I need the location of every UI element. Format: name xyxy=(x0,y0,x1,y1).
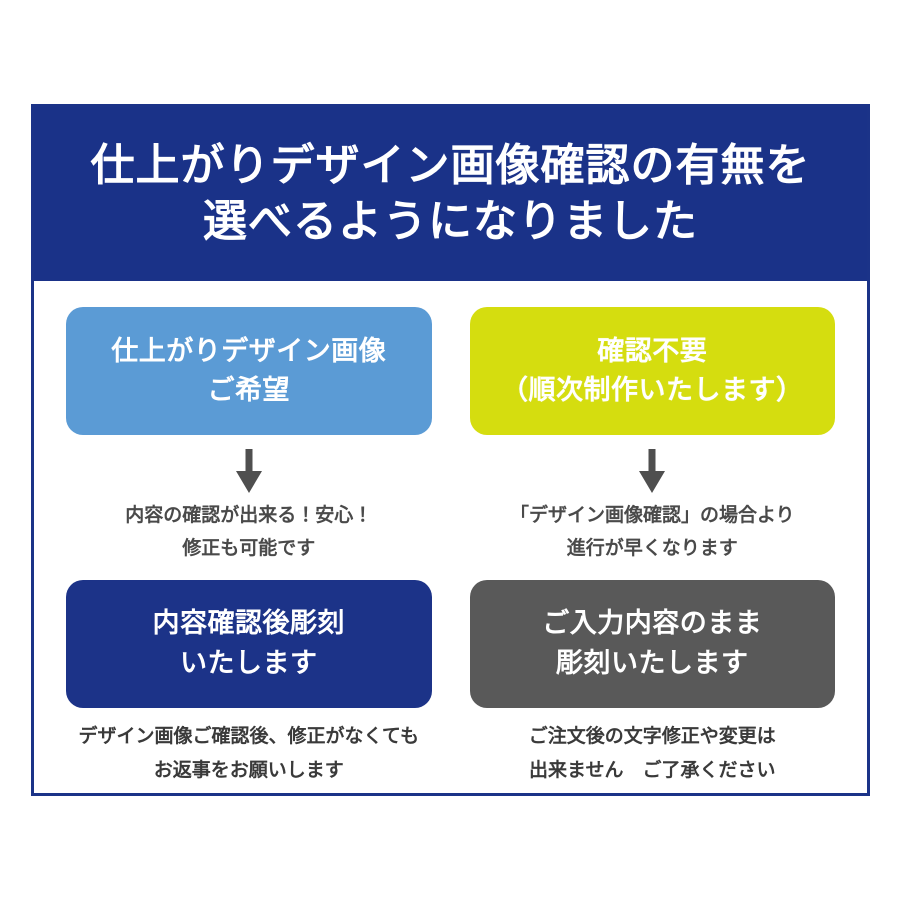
option-pill-design-image-requested[interactable]: 仕上がりデザイン画像 ご希望 xyxy=(66,307,432,435)
benefit-note-left-line-1: 内容の確認が出来る！安心！ xyxy=(125,499,372,532)
caption-left-line-2: お返事をお願いします xyxy=(79,754,419,788)
benefit-note-left: 内容の確認が出来る！安心！ 修正も可能です xyxy=(125,499,372,566)
result-pill-line-2: いたします xyxy=(180,644,318,683)
down-arrow-icon xyxy=(234,449,264,493)
option-pill-line-2: ご希望 xyxy=(208,371,291,410)
caption-right: ご注文後の文字修正や変更は 出来ません ご了承ください xyxy=(529,720,776,788)
benefit-note-left-line-2: 修正も可能です xyxy=(125,532,372,565)
caption-right-line-2: 出来ません ご了承ください xyxy=(529,754,776,788)
info-card: 仕上がりデザイン画像確認の有無を 選べるようになりました 仕上がりデザイン画像 … xyxy=(31,104,870,796)
banner-title-line-1: 仕上がりデザイン画像確認の有無を xyxy=(91,140,811,192)
option-column-no-confirmation-needed: 確認不要 （順次制作いたします） 「デザイン画像確認」の場合より 進行が早くなり… xyxy=(470,307,836,793)
option-column-design-image-requested: 仕上がりデザイン画像 ご希望 内容の確認が出来る！安心！ 修正も可能です 内容確… xyxy=(66,307,432,793)
result-pill-engrave-after-confirmation[interactable]: 内容確認後彫刻 いたします xyxy=(66,580,432,708)
benefit-note-right-line-1: 「デザイン画像確認」の場合より xyxy=(510,499,795,532)
option-pill-no-confirmation-needed[interactable]: 確認不要 （順次制作いたします） xyxy=(470,307,836,435)
banner-header: 仕上がりデザイン画像確認の有無を 選べるようになりました xyxy=(34,107,867,281)
down-arrow-icon xyxy=(637,449,667,493)
option-pill-line-2: （順次制作いたします） xyxy=(501,371,804,410)
benefit-note-right-line-2: 進行が早くなります xyxy=(510,532,795,565)
caption-left: デザイン画像ご確認後、修正がなくても お返事をお願いします xyxy=(79,720,419,788)
options-body: 仕上がりデザイン画像 ご希望 内容の確認が出来る！安心！ 修正も可能です 内容確… xyxy=(34,281,867,793)
option-pill-line-1: 仕上がりデザイン画像 xyxy=(111,332,386,371)
option-pill-line-1: 確認不要 xyxy=(597,332,707,371)
caption-right-line-1: ご注文後の文字修正や変更は xyxy=(529,720,776,754)
banner-title-line-2: 選べるようになりました xyxy=(203,196,698,248)
result-pill-line-1: 内容確認後彫刻 xyxy=(153,604,346,643)
result-pill-line-1: ご入力内容のまま xyxy=(542,604,762,643)
benefit-note-right: 「デザイン画像確認」の場合より 進行が早くなります xyxy=(510,499,795,566)
caption-left-line-1: デザイン画像ご確認後、修正がなくても xyxy=(79,720,419,754)
poster-canvas: 仕上がりデザイン画像確認の有無を 選べるようになりました 仕上がりデザイン画像 … xyxy=(0,0,900,900)
result-pill-line-2: 彫刻いたします xyxy=(556,644,749,683)
result-pill-engrave-as-entered[interactable]: ご入力内容のまま 彫刻いたします xyxy=(470,580,836,708)
